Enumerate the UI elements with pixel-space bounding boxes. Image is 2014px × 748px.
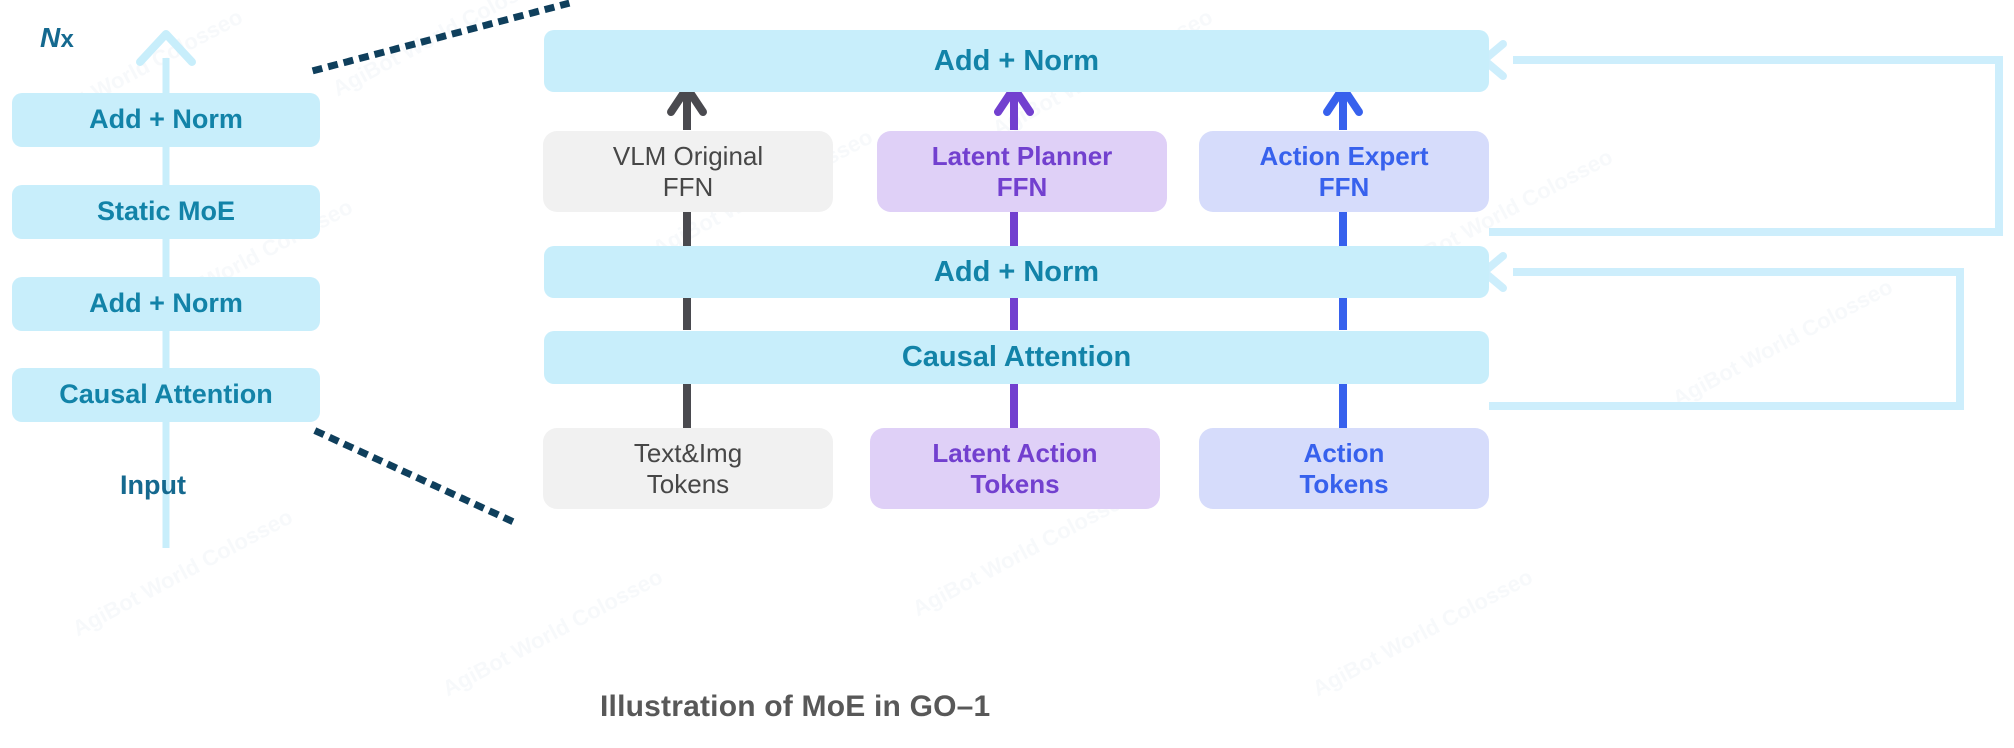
right-box-label: Causal Attention: [902, 340, 1131, 374]
dotted-line-top: [316, 4, 566, 70]
token-latent-action-tokens[interactable]: Latent Action Tokens: [870, 428, 1160, 509]
figure-caption: Illustration of MoE in GO–1: [600, 690, 990, 724]
right-box-add-norm-top[interactable]: Add + Norm: [544, 30, 1489, 92]
expert-label: Latent Planner FFN: [932, 141, 1113, 202]
left-box-label: Static MoE: [97, 196, 235, 228]
dotted-line-bottom: [318, 432, 518, 524]
input-label: Input: [120, 470, 186, 501]
left-box-add-norm-bottom[interactable]: Add + Norm: [12, 277, 320, 331]
left-box-static-moe[interactable]: Static MoE: [12, 185, 320, 239]
repeat-count-label: Nx: [40, 22, 74, 54]
residual-path-upper: [1489, 60, 1999, 232]
token-label: Action Tokens: [1299, 438, 1388, 499]
expert-label: VLM Original FFN: [613, 141, 763, 202]
right-box-label: Add + Norm: [934, 255, 1099, 289]
left-box-label: Add + Norm: [89, 288, 243, 320]
left-box-label: Add + Norm: [89, 104, 243, 136]
expert-vlm-original-ffn[interactable]: VLM Original FFN: [543, 131, 833, 212]
token-label: Text&Img Tokens: [634, 438, 742, 499]
repeat-symbol: N: [40, 22, 61, 53]
expert-latent-planner-ffn[interactable]: Latent Planner FFN: [877, 131, 1167, 212]
figure-canvas: AgiBot World Colosseo AgiBot World Colos…: [0, 0, 2014, 748]
right-box-add-norm-mid[interactable]: Add + Norm: [544, 246, 1489, 298]
left-box-label: Causal Attention: [59, 379, 273, 411]
left-box-add-norm-top[interactable]: Add + Norm: [12, 93, 320, 147]
right-box-label: Add + Norm: [934, 44, 1099, 78]
token-action-tokens[interactable]: Action Tokens: [1199, 428, 1489, 509]
expert-action-expert-ffn[interactable]: Action Expert FFN: [1199, 131, 1489, 212]
left-box-causal-attention[interactable]: Causal Attention: [12, 368, 320, 422]
right-box-causal-attention[interactable]: Causal Attention: [544, 331, 1489, 384]
token-label: Latent Action Tokens: [932, 438, 1097, 499]
token-text-img-tokens[interactable]: Text&Img Tokens: [543, 428, 833, 509]
residual-path-lower: [1489, 272, 1960, 406]
expert-label: Action Expert FFN: [1259, 141, 1428, 202]
repeat-times: x: [61, 26, 75, 53]
